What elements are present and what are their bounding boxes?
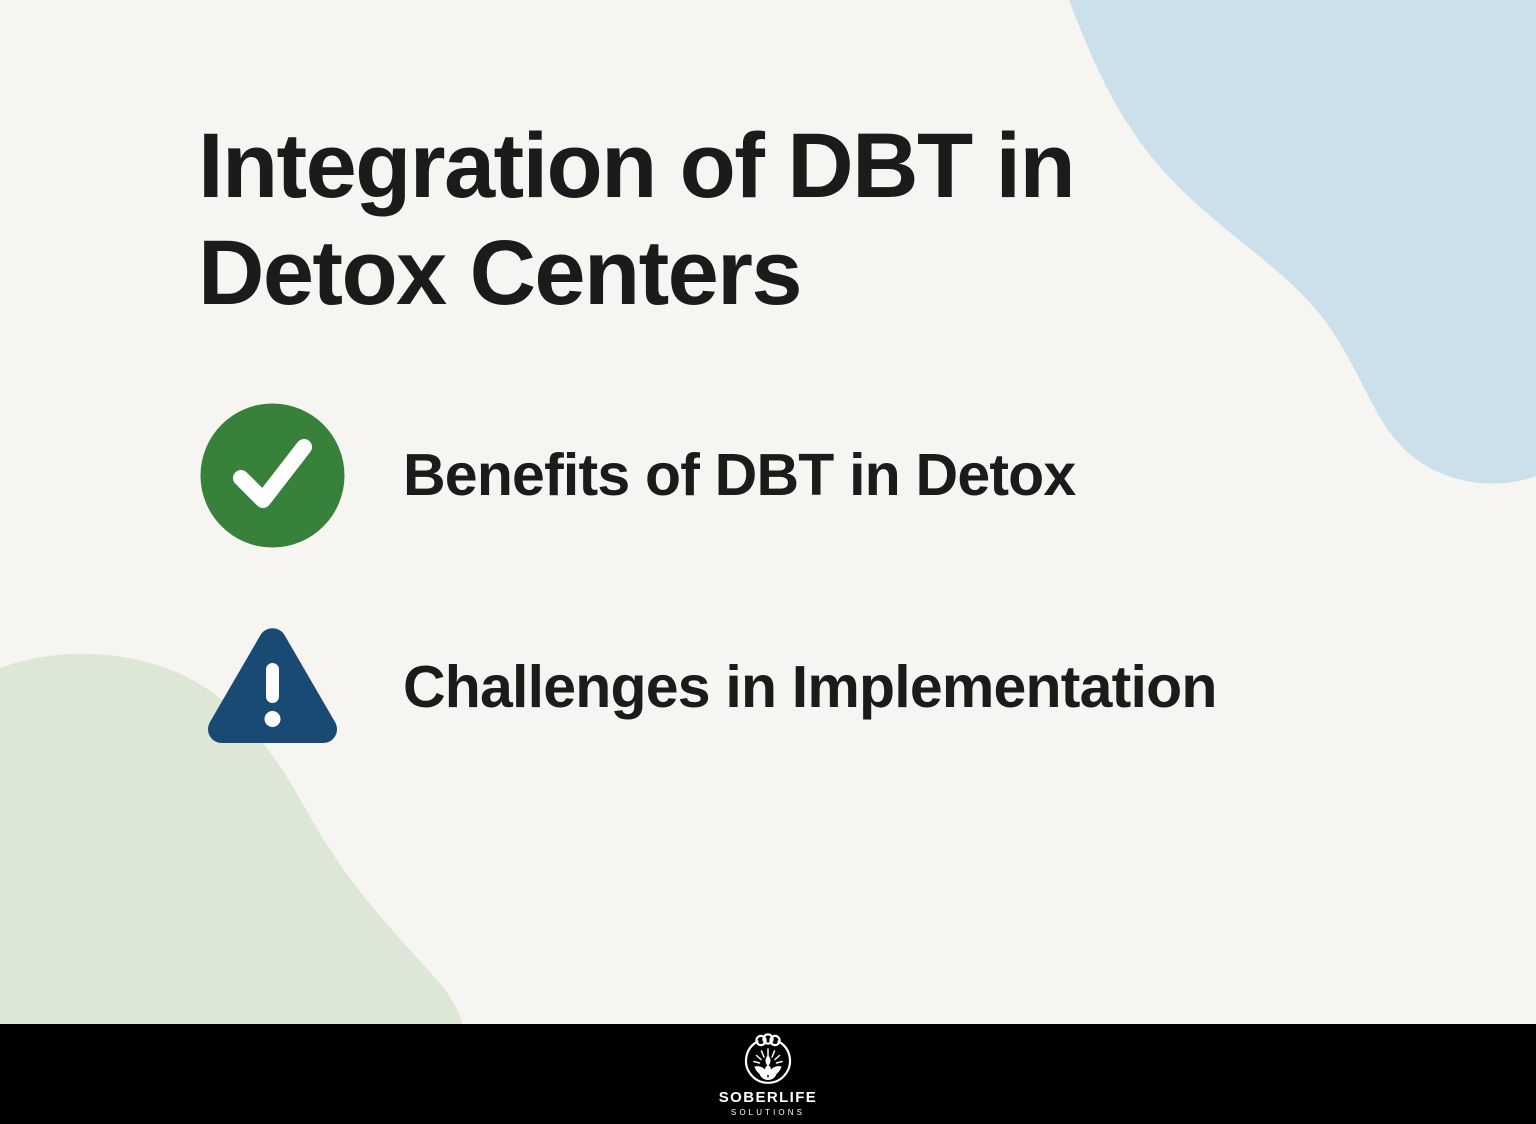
warning-triangle-icon — [200, 615, 345, 760]
brand-logo: SOBERLIFE SOLUTIONS — [719, 1033, 817, 1117]
list-item: Benefits of DBT in Detox — [200, 400, 1460, 550]
page-title: Integration of DBT in Detox Centers — [198, 113, 1238, 326]
bullet-list: Benefits of DBT in Detox Challenges in I… — [200, 400, 1460, 762]
footer-bar: SOBERLIFE SOLUTIONS — [0, 1024, 1536, 1124]
brand-name: SOBERLIFE — [719, 1090, 817, 1105]
list-item-label: Benefits of DBT in Detox — [403, 441, 1075, 509]
check-circle-icon — [200, 403, 345, 548]
list-item: Challenges in Implementation — [200, 612, 1460, 762]
list-item-label: Challenges in Implementation — [403, 653, 1217, 721]
soberlife-emblem-icon — [741, 1033, 795, 1087]
brand-tagline: SOLUTIONS — [731, 1109, 805, 1117]
slide-root: Integration of DBT in Detox Centers Bene… — [0, 0, 1536, 1124]
